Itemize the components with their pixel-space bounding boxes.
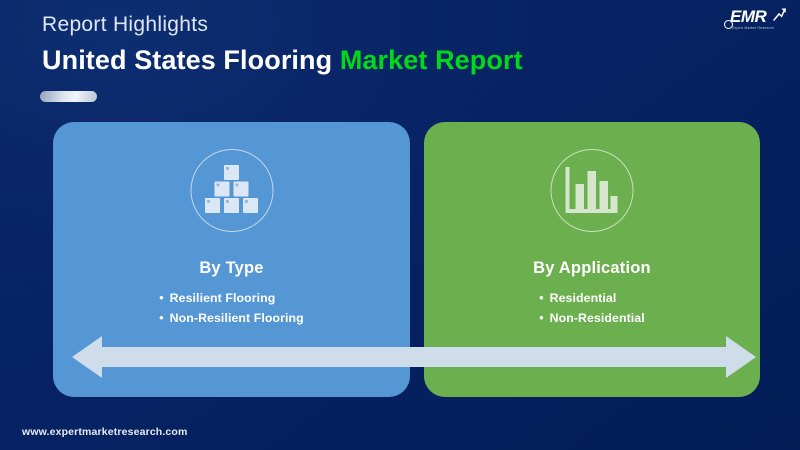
double-headed-arrow [72, 333, 756, 381]
title-primary: United States Flooring [42, 45, 332, 75]
growth-arrow-icon [773, 7, 787, 22]
bar-chart-icon [565, 165, 619, 217]
list-item: Resilient Flooring [159, 288, 303, 308]
title-accent: Market Report [340, 45, 523, 75]
accent-bar [40, 91, 97, 102]
header-block: Report Highlights United States Flooring… [42, 10, 523, 78]
list-item: Non-Resilient Flooring [159, 308, 303, 328]
emr-logo[interactable]: EMR Expert Market Research [722, 7, 788, 41]
stacked-boxes-icon [203, 163, 261, 219]
logo-tagline: Expert Market Research [732, 26, 774, 31]
card-title-by-application: By Application [424, 259, 760, 278]
icon-circle-by-application [551, 149, 634, 232]
list-item: Residential [539, 288, 645, 308]
card-title-by-type: By Type [53, 259, 410, 278]
page-title: United States Flooring Market Report [42, 42, 523, 78]
eyebrow-label: Report Highlights [42, 10, 523, 40]
footer-url[interactable]: www.expertmarketresearch.com [22, 426, 187, 438]
card-bullets-by-application: Residential Non-Residential [424, 288, 760, 328]
slide-canvas: Report Highlights United States Flooring… [0, 0, 800, 450]
card-bullets-by-type: Resilient Flooring Non-Resilient Floorin… [53, 288, 410, 328]
logo-brand: EMR [730, 8, 766, 26]
icon-circle-by-type [190, 149, 273, 232]
list-item: Non-Residential [539, 308, 645, 328]
